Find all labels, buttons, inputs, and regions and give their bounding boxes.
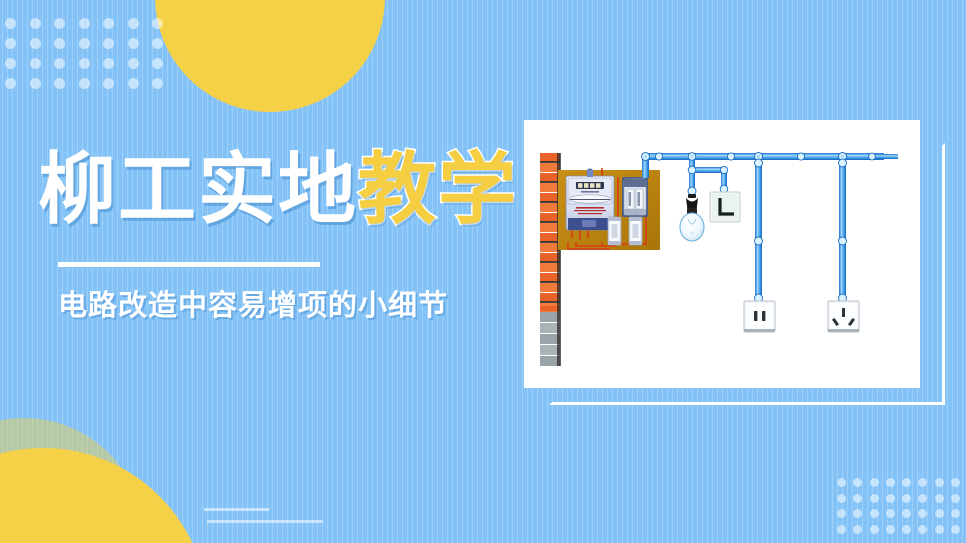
decor-dot: [902, 494, 911, 503]
decor-dot: [837, 509, 846, 518]
decor-dot: [128, 78, 139, 89]
title-accent: 教学: [358, 145, 518, 233]
decor-dot: [853, 525, 862, 534]
decor-dot: [103, 18, 114, 29]
decor-dot: [54, 38, 65, 49]
decor-dot: [54, 78, 65, 89]
decor-dot: [870, 509, 879, 518]
decor-dot: [152, 78, 163, 89]
diagram-panel: [524, 120, 920, 388]
decor-dot: [918, 509, 927, 518]
decor-dot: [935, 509, 944, 518]
decor-dot: [79, 58, 90, 69]
decor-dot: [79, 18, 90, 29]
decor-dot: [935, 525, 944, 534]
electric-meter-icon: [566, 169, 614, 231]
decor-dot: [103, 78, 114, 89]
decor-dot: [5, 18, 16, 29]
decor-dot: [886, 494, 895, 503]
decor-dot: [951, 494, 960, 503]
page-subtitle: 电路改造中容易增项的小细节: [58, 282, 448, 324]
decor-dot: [30, 78, 41, 89]
wall-switch-icon: [710, 192, 740, 222]
decor-dot: [103, 38, 114, 49]
decor-dot: [886, 478, 895, 487]
decor-dot: [853, 478, 862, 487]
decor-dot: [30, 58, 41, 69]
page-title: 柳工实地教学: [38, 150, 518, 228]
decor-dot: [853, 509, 862, 518]
dot-grid-bottom-right: [837, 478, 966, 540]
decor-dot: [837, 478, 846, 487]
decor-line-long: [207, 520, 323, 523]
decor-dot: [5, 58, 16, 69]
yellow-circle-solid-icon: [0, 448, 208, 543]
decor-dot: [30, 38, 41, 49]
fuse-left-icon: [608, 217, 621, 245]
decor-dot: [79, 38, 90, 49]
decor-dot: [951, 509, 960, 518]
decor-dot: [79, 78, 90, 89]
decor-dot: [935, 478, 944, 487]
decor-dot: [5, 38, 16, 49]
decor-dot: [870, 478, 879, 487]
title-divider: [58, 262, 320, 267]
circuit-diagram: [524, 120, 920, 388]
decor-dot: [918, 525, 927, 534]
decor-dot: [886, 525, 895, 534]
decor-dot: [5, 78, 16, 89]
decor-dot: [918, 494, 927, 503]
decor-dot: [870, 494, 879, 503]
decor-dot: [837, 525, 846, 534]
decor-dot: [152, 58, 163, 69]
decor-dot: [128, 18, 139, 29]
decor-dot: [54, 58, 65, 69]
dot-grid-top-left: [5, 18, 177, 98]
decor-line-short: [204, 508, 269, 511]
decor-dot: [128, 38, 139, 49]
decor-dot: [951, 525, 960, 534]
decor-dot: [886, 509, 895, 518]
decor-dot: [918, 478, 927, 487]
circuit-breaker-icon: [622, 177, 648, 217]
decor-dot: [902, 509, 911, 518]
headline-block: 柳工实地教学 电路改造中容易增项的小细节: [38, 150, 518, 228]
decor-dot: [870, 525, 879, 534]
decor-dot: [951, 478, 960, 487]
light-bulb-icon: [680, 194, 704, 241]
decor-dot: [30, 18, 41, 29]
decor-dot: [935, 494, 944, 503]
decor-dot: [902, 478, 911, 487]
decor-dot: [837, 494, 846, 503]
title-main: 柳工实地: [38, 145, 358, 233]
decor-dot: [152, 18, 163, 29]
outlet-two-pin-icon: [744, 301, 775, 332]
yellow-circle-top-icon: [155, 0, 385, 112]
outlet-three-pin-icon: [828, 301, 859, 332]
decor-dot: [853, 494, 862, 503]
decor-dot: [128, 58, 139, 69]
fuse-right-icon: [629, 217, 642, 245]
decor-dot: [152, 38, 163, 49]
decor-dot: [54, 18, 65, 29]
brick-wall-icon: [540, 153, 561, 366]
meter-board-icon: [558, 168, 660, 250]
decor-dot: [103, 58, 114, 69]
decor-dot: [902, 525, 911, 534]
poster-canvas: 柳工实地教学 电路改造中容易增项的小细节: [0, 0, 966, 543]
